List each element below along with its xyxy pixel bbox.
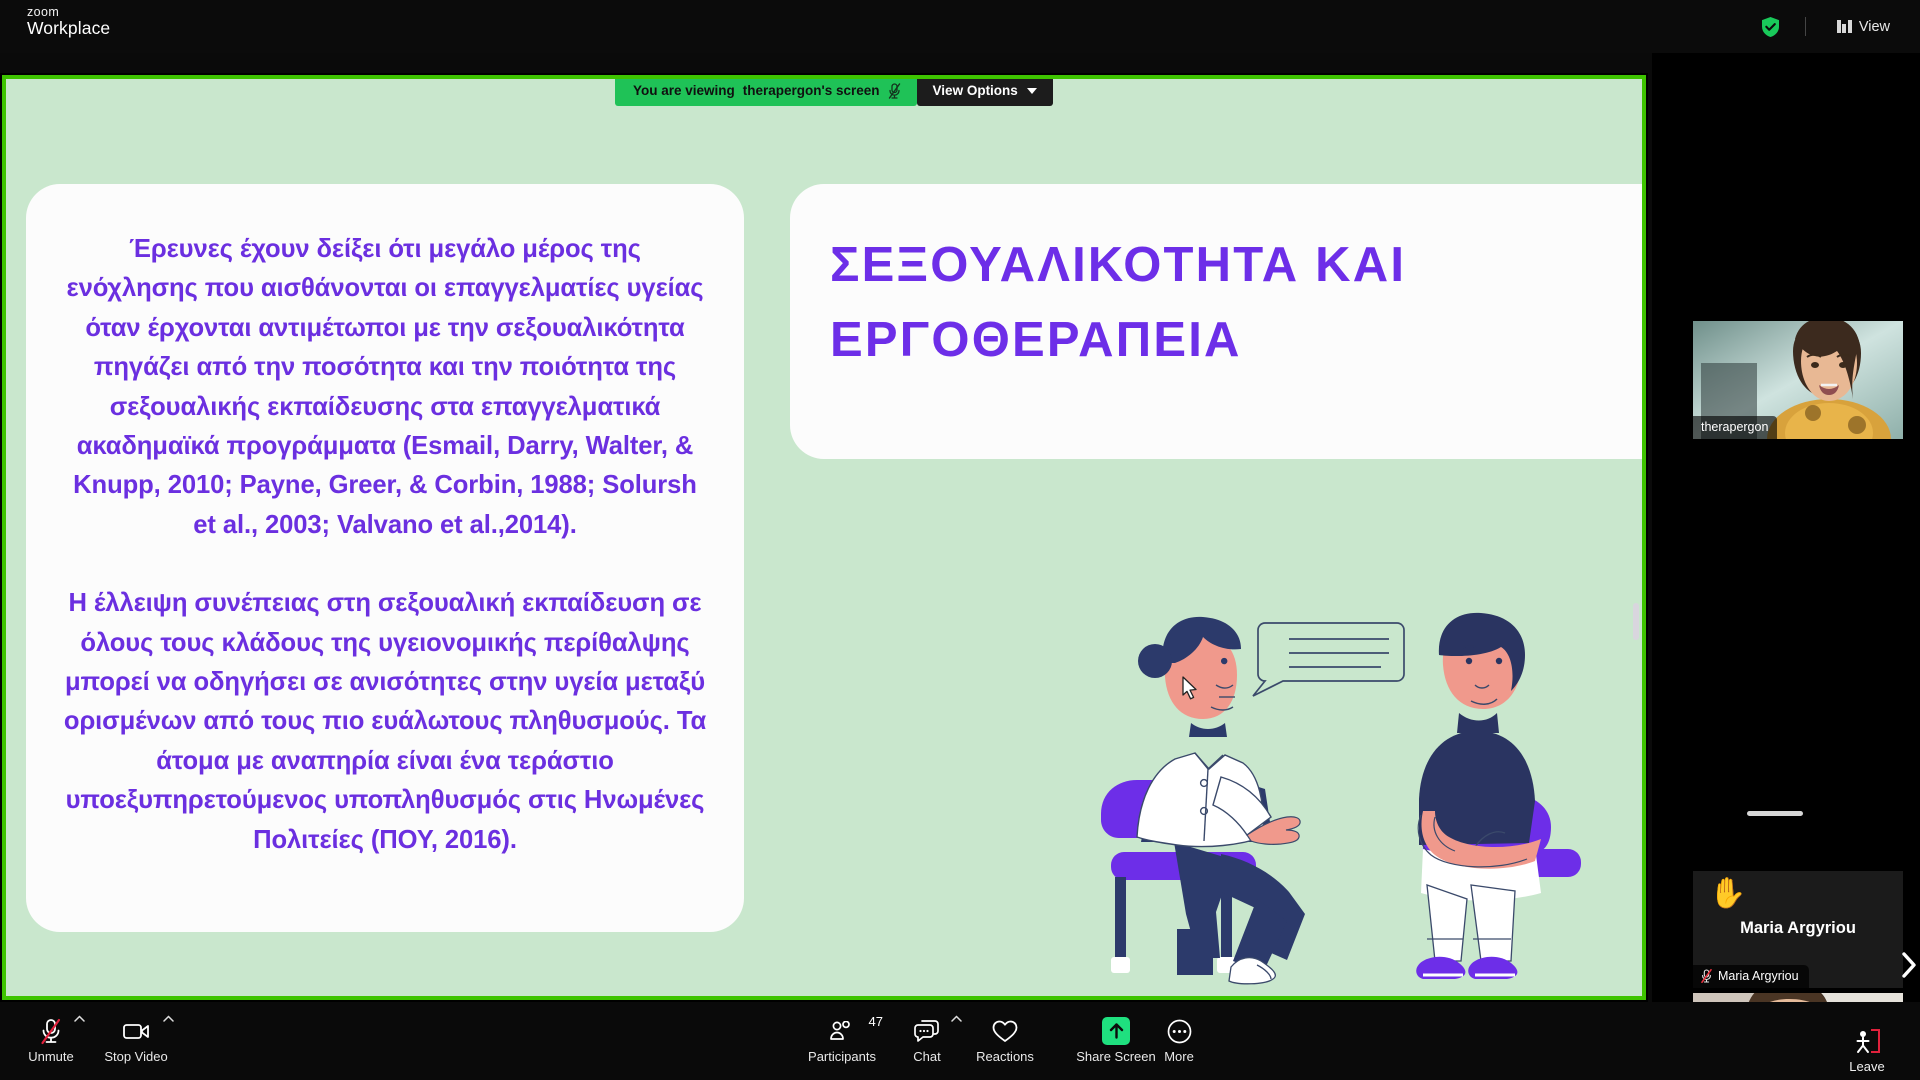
chevron-right-icon xyxy=(1901,952,1917,978)
participants-button-label: Participants xyxy=(808,1049,876,1064)
view-button-label: View xyxy=(1859,19,1890,35)
mute-button-label: Unmute xyxy=(28,1049,74,1064)
leave-button[interactable]: Leave xyxy=(1830,1026,1904,1074)
meeting-toolbar: Unmute Stop Video 47 Participants Chat xyxy=(0,1002,1920,1080)
slide-body-text: Έρευνες έχουν δείξει ότι μεγάλο μέρος τη… xyxy=(62,230,708,860)
exit-door-icon xyxy=(1854,1026,1881,1056)
presentation-slide: Έρευνες έχουν δείξει ότι μεγάλο μέρος τη… xyxy=(6,79,1642,996)
audio-options-caret[interactable] xyxy=(74,1014,85,1025)
slide-paragraph-2: Η έλλειψη συνέπειας στη σεξουαλική εκπαί… xyxy=(62,584,708,860)
participants-count: 47 xyxy=(869,1014,883,1029)
stop-video-button[interactable]: Stop Video xyxy=(99,1016,173,1064)
ellipsis-icon xyxy=(1167,1016,1192,1046)
heart-icon xyxy=(992,1016,1018,1046)
chevron-down-icon xyxy=(1027,88,1037,94)
video-tile-active-speaker[interactable]: therapergon xyxy=(1693,321,1903,439)
camera-icon xyxy=(123,1016,150,1046)
video-options-caret[interactable] xyxy=(163,1014,174,1025)
viewing-status: You are viewing therapergon's screen xyxy=(615,75,917,106)
chat-bubble-icon xyxy=(914,1016,940,1046)
view-options-button[interactable]: View Options xyxy=(917,75,1053,106)
chat-options-caret[interactable] xyxy=(951,1014,962,1025)
sidebar-height-drag-handle[interactable] xyxy=(1747,811,1803,816)
view-button[interactable]: View xyxy=(1831,15,1896,39)
view-options-label: View Options xyxy=(933,83,1018,98)
mic-muted-icon xyxy=(888,83,901,99)
reactions-button-label: Reactions xyxy=(976,1049,1034,1064)
participants-button[interactable]: 47 Participants xyxy=(805,1016,879,1064)
title-bar-divider xyxy=(1805,17,1806,36)
slide-paragraph-1: Έρευνες έχουν δείξει ότι μεγάλο μέρος τη… xyxy=(62,230,708,545)
stop-video-button-label: Stop Video xyxy=(104,1049,167,1064)
mic-muted-icon xyxy=(1701,969,1712,983)
mouse-cursor-icon xyxy=(1182,676,1199,700)
slide-title-line-2: ΕΡΓΟΘΕΡΑΠΕΙΑ xyxy=(830,303,1640,378)
title-bar-right-controls: View xyxy=(1762,0,1896,53)
video-tile-name-label: therapergon xyxy=(1693,416,1777,439)
shared-content-frame: Έρευνες έχουν δείξει ότι μεγάλο μέρος τη… xyxy=(2,75,1646,1000)
slide-title-line-1: ΣΕΞΟΥΑΛΙΚΟΤΗΤΑ ΚΑΙ xyxy=(830,228,1640,303)
participant-display-name: Maria Argyriou xyxy=(1693,919,1903,938)
more-button-label: More xyxy=(1164,1049,1194,1064)
grid-layout-icon xyxy=(1837,20,1852,33)
share-screen-up-arrow-icon xyxy=(1102,1016,1130,1046)
title-bar: zoom Workplace View xyxy=(0,0,1920,53)
shared-screen-stage: Έρευνες έχουν δείξει ότι μεγάλο μέρος τη… xyxy=(0,73,1648,1002)
presenter-name-label: therapergon's screen xyxy=(743,83,880,98)
raised-hand-icon: ✋ xyxy=(1709,879,1746,909)
leave-button-label: Leave xyxy=(1849,1059,1884,1074)
more-button[interactable]: More xyxy=(1142,1016,1216,1064)
participant-mic-badge: Maria Argyriou xyxy=(1693,965,1809,988)
chat-button-label: Chat xyxy=(913,1049,940,1064)
zoom-meeting-window: zoom Workplace View Έρευνες έχουν δείξει… xyxy=(0,0,1920,1080)
people-icon: 47 xyxy=(829,1016,856,1046)
app-brand: zoom Workplace xyxy=(27,6,110,38)
viewing-banner: You are viewing therapergon's screen Vie… xyxy=(615,75,1053,106)
green-shield-check-icon[interactable] xyxy=(1762,17,1779,37)
slide-title-card: ΣΕΞΟΥΑΛΙΚΟΤΗΤΑ ΚΑΙ ΕΡΓΟΘΕΡΑΠΕΙΑ xyxy=(790,184,1646,459)
video-tile-participant-1[interactable]: ✋ Maria Argyriou Maria Argyriou xyxy=(1693,871,1903,988)
two-people-talking-on-chairs-illustration xyxy=(1071,599,1581,1000)
brand-workplace-label: Workplace xyxy=(27,19,110,37)
share-width-drag-handle[interactable] xyxy=(1633,603,1639,640)
page-title: ΣΕΞΟΥΑΛΙΚΟΤΗΤΑ ΚΑΙ ΕΡΓΟΘΕΡΑΠΕΙΑ xyxy=(830,228,1640,379)
video-sidebar: therapergon ✋ Maria Argyriou Maria Argyr… xyxy=(1652,53,1920,1031)
viewing-prefix-label: You are viewing xyxy=(633,83,735,98)
sidebar-next-page-button[interactable] xyxy=(1898,947,1920,983)
mic-muted-icon xyxy=(40,1016,62,1046)
participant-badge-name: Maria Argyriou xyxy=(1718,969,1799,983)
reactions-button[interactable]: Reactions xyxy=(968,1016,1042,1064)
slide-text-card: Έρευνες έχουν δείξει ότι μεγάλο μέρος τη… xyxy=(26,184,744,932)
